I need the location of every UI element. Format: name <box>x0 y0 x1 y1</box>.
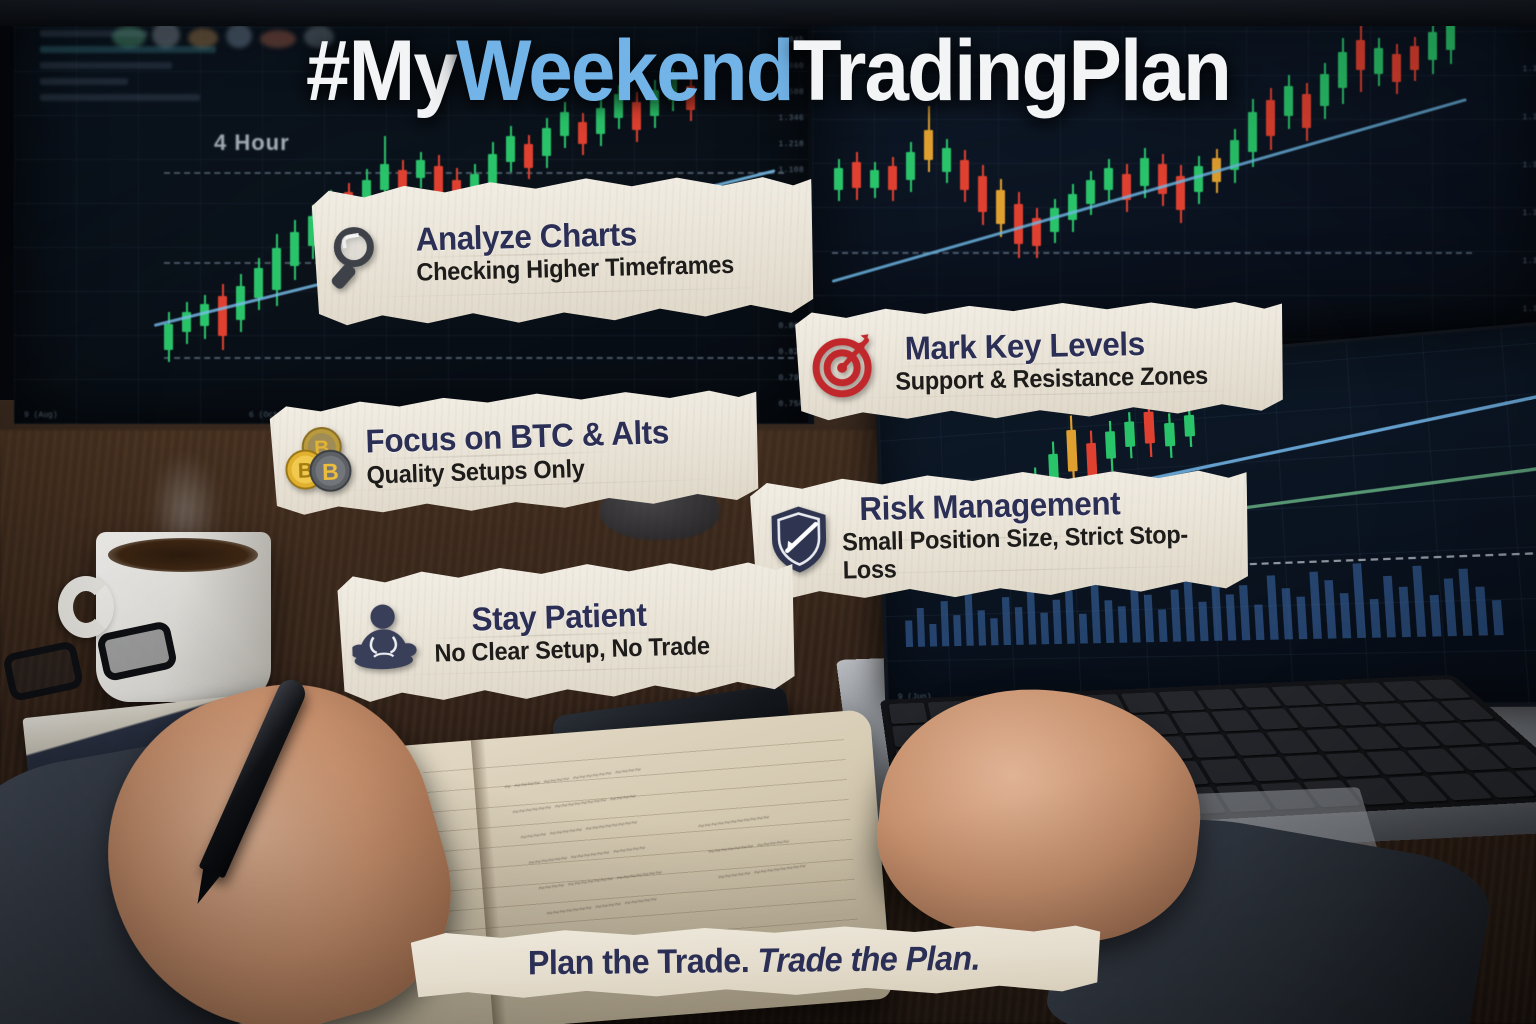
footer-text: Plan the Trade. Trade the Plan. <box>528 939 980 983</box>
card-title: Mark Key Levels <box>904 326 1145 366</box>
coffee-surface <box>108 538 258 572</box>
page-title: #MyWeekendTradingPlan <box>54 28 1482 114</box>
svg-text:B: B <box>322 458 339 485</box>
card-mark-key-levels[interactable]: Mark Key Levels Support & Resistance Zon… <box>792 296 1286 425</box>
card-subtitle: No Clear Setup, No Trade <box>434 632 710 668</box>
title-part-weekend: Weekend <box>456 23 793 119</box>
card-subtitle: Small Position Size, Strict Stop-Loss <box>842 521 1206 585</box>
target-bullseye-icon <box>808 329 879 400</box>
meditating-person-icon <box>351 601 423 673</box>
card-title: Risk Management <box>859 486 1121 527</box>
left-monitor-timeframe-label: 4 Hour <box>214 130 290 156</box>
right-monitor-price-axis: 1.3861.3721.358 1.3441.3301.3161.302 <box>1500 0 1536 332</box>
card-subtitle: Support & Resistance Zones <box>895 362 1208 396</box>
infographic-canvas: 4 Hour <box>0 0 1536 1024</box>
title-part-tradingplan: TradingPlan <box>793 23 1230 119</box>
support-dash-line-3 <box>164 357 804 359</box>
title-part-hash: #My <box>306 23 456 119</box>
card-subtitle: Checking Higher Timeframes <box>416 251 734 287</box>
footer-line-regular: Plan the Trade. <box>528 942 750 982</box>
shield-icon <box>763 504 835 576</box>
card-title: Analyze Charts <box>415 214 737 257</box>
card-title: Stay Patient <box>471 597 647 637</box>
magnifying-glass-icon <box>325 220 397 292</box>
footer-line-italic: Trade the Plan. <box>757 939 980 979</box>
cup-handle <box>58 576 114 638</box>
bitcoin-coins-icon: B B B <box>283 423 355 495</box>
